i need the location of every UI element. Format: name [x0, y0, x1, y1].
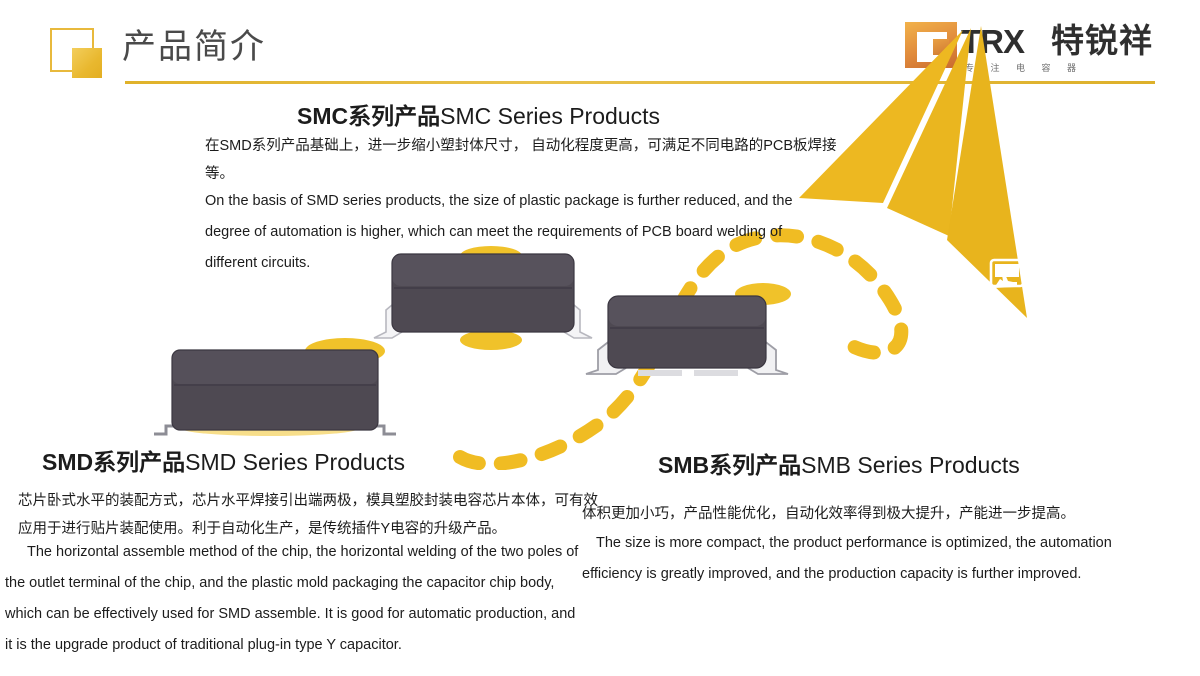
section-body-cn-smc: 在SMD系列产品基础上，进一步缩小塑封体尺寸， 自动化程度更高，可满足不同电路的…	[205, 132, 865, 188]
section-heading-en: SMD Series Products	[185, 449, 405, 475]
section-heading-cn: SMB系列产品	[658, 452, 801, 478]
click-hand-screen-icon	[988, 258, 1026, 292]
section-body-cn-smb: 体积更加小巧，产品性能优化，自动化效率得到极大提升，产能进一步提高。	[582, 500, 1182, 528]
section-body-en-smb: The size is more compact, the product pe…	[582, 528, 1162, 590]
section-heading-en: SMB Series Products	[801, 452, 1020, 478]
brand-logo: TRX 特锐祥 专 注 电 容 器	[905, 20, 1160, 76]
square-filled-icon	[72, 48, 102, 78]
logo-c-mark-icon	[905, 22, 957, 68]
section-body-en-smc: On the basis of SMD series products, the…	[205, 186, 830, 279]
section-heading-smc: SMC系列产品SMC Series Products	[297, 103, 660, 131]
product-image-smd	[150, 338, 400, 443]
logo-mark-bar	[933, 39, 949, 55]
section-heading-en: SMC Series Products	[440, 103, 660, 129]
slide-canvas: 产品简介 TRX 特锐祥 专 注 电 容 器	[0, 0, 1200, 676]
logo-brand-cn: 特锐祥	[1051, 22, 1153, 60]
section-body-cn-smd: 芯片卧式水平的装配方式，芯片水平焊接引出端两极，模具塑胶封装电容芯片本体，可有效…	[18, 487, 598, 543]
section-body-en-smd: The horizontal assemble method of the ch…	[5, 537, 585, 661]
page-title: 产品简介	[122, 24, 266, 70]
logo-tagline: 专 注 电 容 器	[965, 61, 1083, 74]
section-heading-cn: SMC系列产品	[297, 103, 440, 129]
product-image-smb	[582, 288, 794, 380]
section-heading-smb: SMB系列产品SMB Series Products	[658, 452, 1020, 480]
section-heading-cn: SMD系列产品	[42, 449, 185, 475]
section-heading-smd: SMD系列产品SMD Series Products	[42, 449, 405, 477]
header-divider	[125, 81, 1155, 84]
logo-brand-latin: TRX	[961, 24, 1024, 60]
